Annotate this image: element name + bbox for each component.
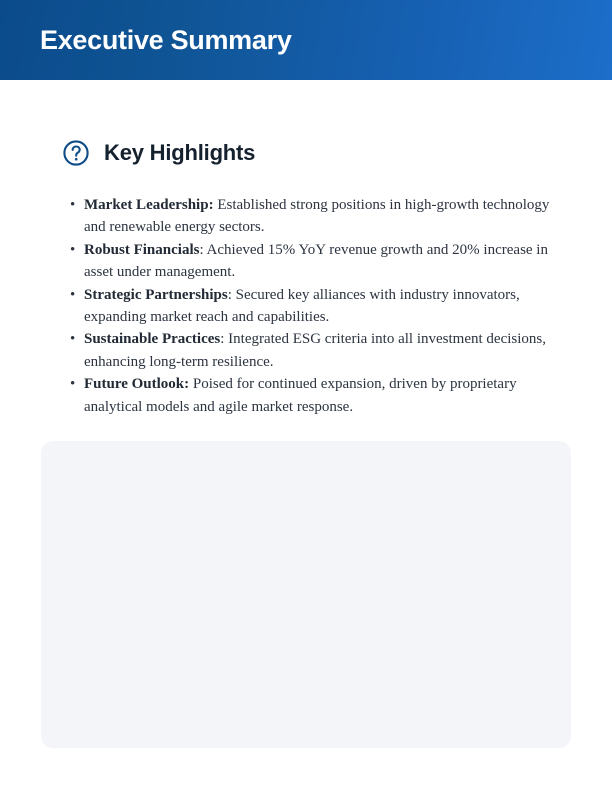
list-item: Sustainable Practices: Integrated ESG cr… bbox=[84, 328, 554, 373]
list-item-label: Market Leadership: bbox=[84, 197, 214, 213]
page-header-banner: Executive Summary bbox=[0, 0, 612, 80]
list-item-label: Strategic Partnerships bbox=[84, 287, 228, 303]
list-item: Robust Financials: Achieved 15% YoY reve… bbox=[84, 239, 554, 284]
question-circle-icon bbox=[62, 139, 90, 167]
page-title: Executive Summary bbox=[0, 27, 292, 54]
content-placeholder-card bbox=[41, 441, 571, 748]
list-item: Strategic Partnerships: Secured key alli… bbox=[84, 284, 554, 329]
list-item-label: Robust Financials bbox=[84, 242, 199, 258]
section-title: Key Highlights bbox=[104, 142, 255, 164]
list-item-label: Future Outlook: bbox=[84, 376, 189, 392]
page-content: Key Highlights Market Leadership: Establ… bbox=[0, 80, 612, 418]
list-item: Future Outlook: Poised for continued exp… bbox=[84, 373, 554, 418]
key-highlights-list: Market Leadership: Established strong po… bbox=[0, 194, 612, 418]
list-item: Market Leadership: Established strong po… bbox=[84, 194, 554, 239]
key-highlights-heading: Key Highlights bbox=[0, 138, 612, 168]
list-item-label: Sustainable Practices bbox=[84, 331, 220, 347]
page-number: 2 bbox=[0, 760, 612, 774]
